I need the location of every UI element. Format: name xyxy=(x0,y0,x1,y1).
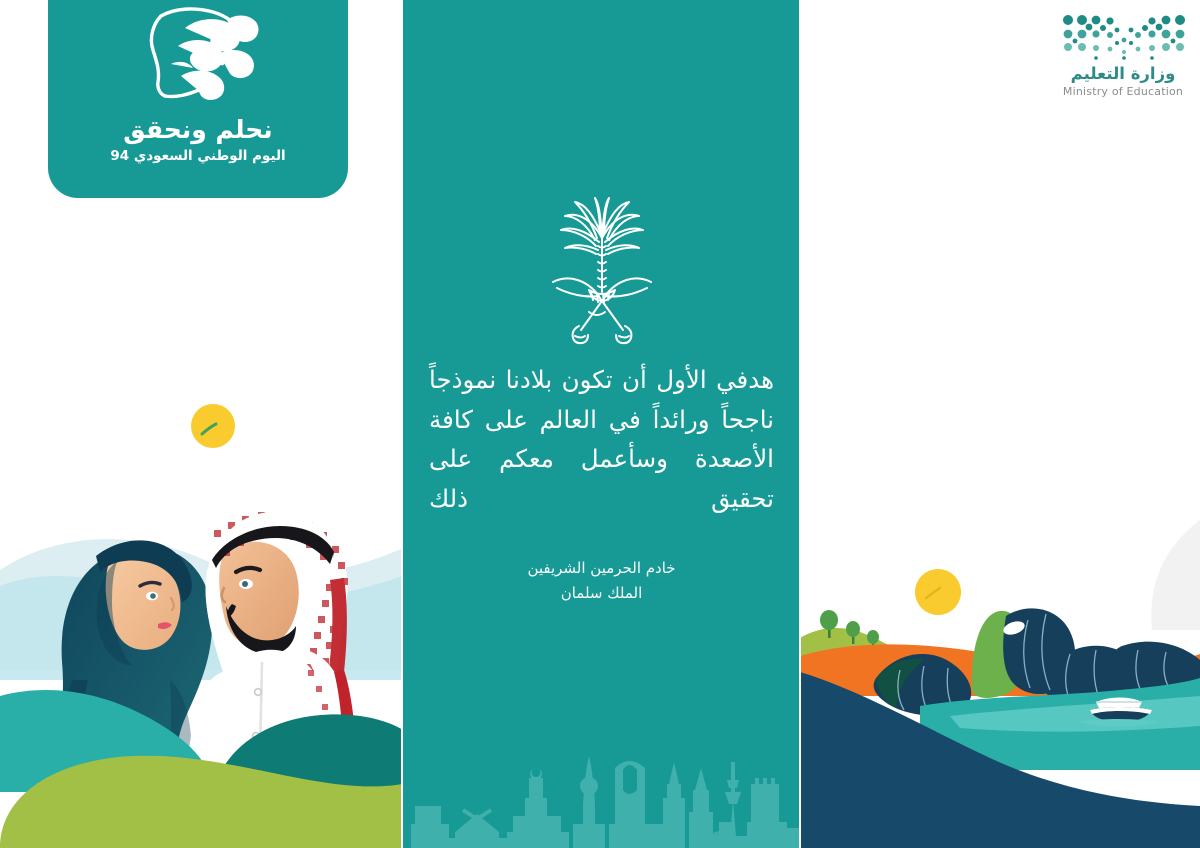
panel-divider-left xyxy=(401,0,403,848)
attribution-line-2: الملك سلمان xyxy=(429,581,774,606)
national-day-logo-card: نحلم ونحقق اليوم الوطني السعودي 94 xyxy=(48,0,348,198)
saudi-couple-illustration xyxy=(0,380,403,848)
right-panel: لكل إنجاز عظيم حلم طموح طموح وطن تحقق بع… xyxy=(800,0,1200,848)
panel-divider-right xyxy=(799,0,801,848)
saudi-map-calligraphy-icon xyxy=(123,0,273,110)
saudi-national-emblem-icon xyxy=(539,196,665,346)
riyadh-skyline-silhouette xyxy=(403,728,800,848)
attribution-line-1: خادم الحرمين الشريفين xyxy=(429,556,774,581)
logo-title: نحلم ونحقق xyxy=(123,116,272,144)
national-day-poster: نحلم ونحقق اليوم الوطني السعودي 94 xyxy=(0,0,1200,848)
center-panel: هدفي الأول أن تكون بلادنا نموذجاً ناجحاً… xyxy=(403,0,800,848)
ministry-name-en: Ministry of Education xyxy=(1055,85,1191,98)
logo-subtitle: اليوم الوطني السعودي 94 xyxy=(110,148,285,164)
landscape-with-boat-illustration xyxy=(800,520,1200,848)
left-panel: نحلم ونحقق اليوم الوطني السعودي 94 xyxy=(0,0,403,848)
king-quote: هدفي الأول أن تكون بلادنا نموذجاً ناجحاً… xyxy=(429,360,774,519)
ministry-name-ar: وزارة التعليم xyxy=(1055,64,1191,83)
sun-shape xyxy=(915,569,961,615)
quote-attribution: خادم الحرمين الشريفين الملك سلمان xyxy=(429,556,774,606)
ministry-of-education-dots-icon xyxy=(1060,10,1188,66)
